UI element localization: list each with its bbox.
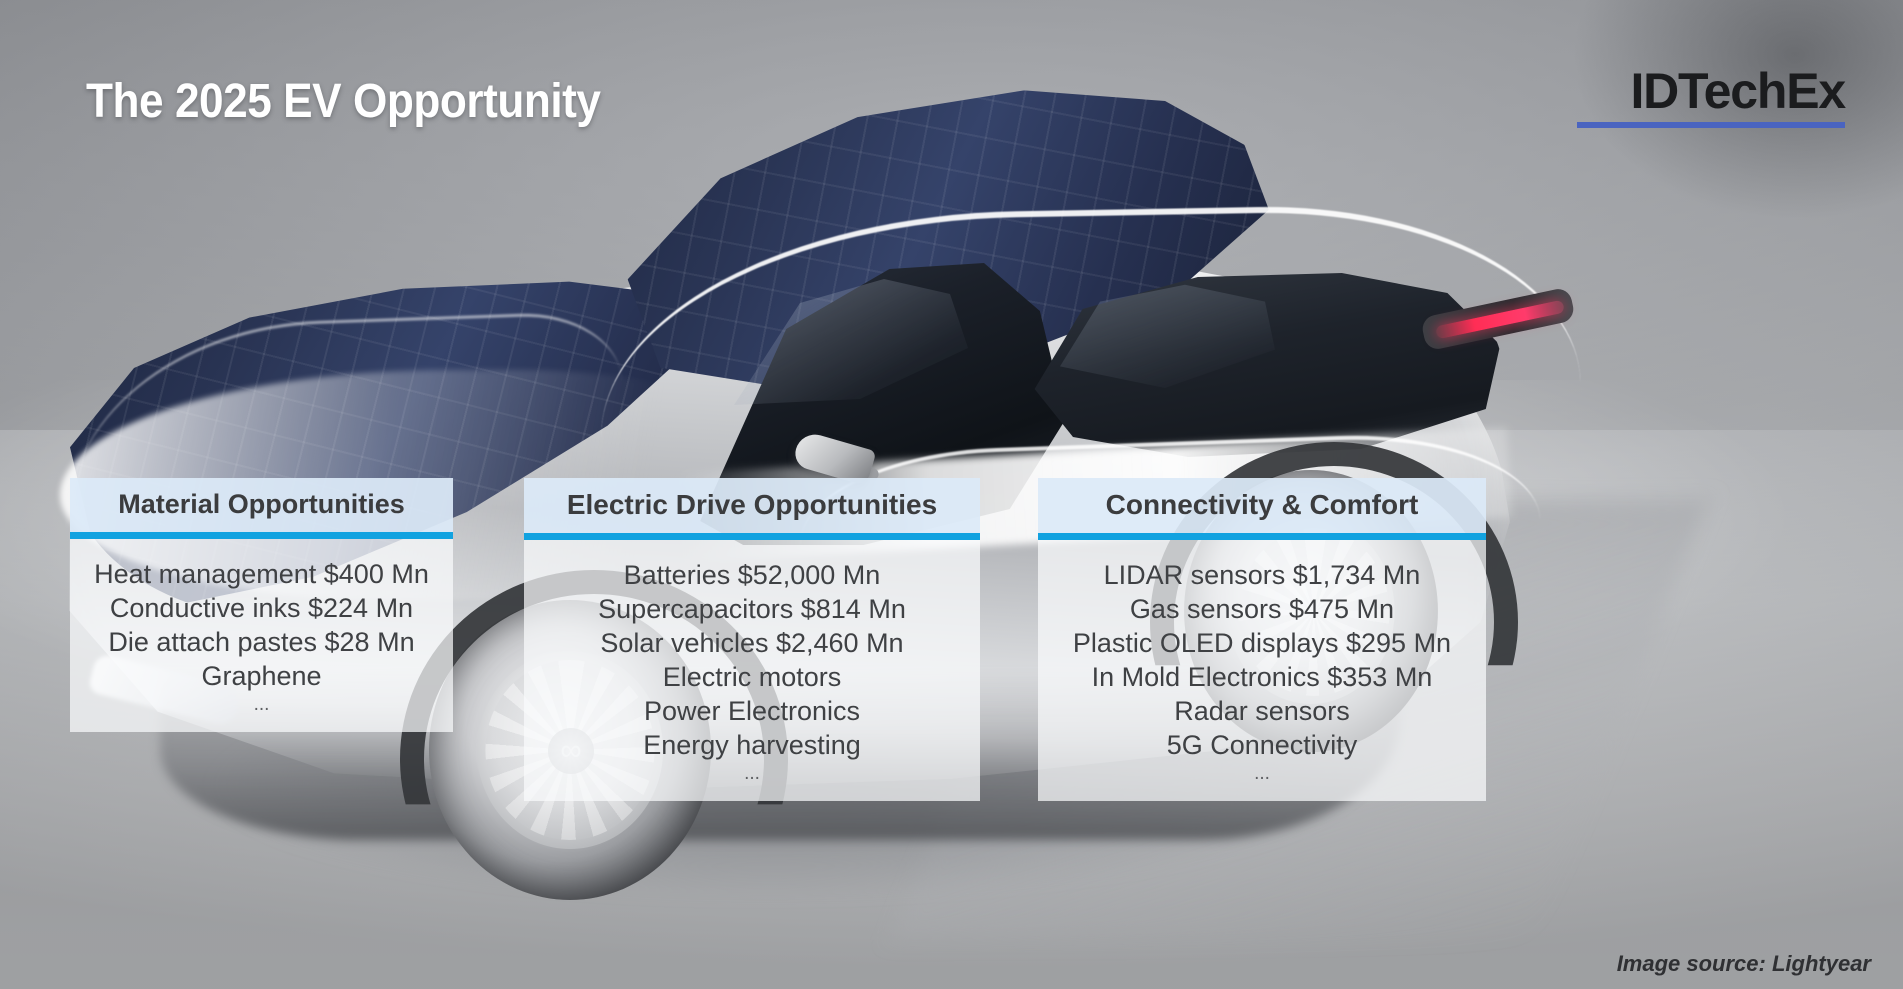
list-item: Gas sensors $475 Mn	[1046, 592, 1478, 626]
list-item: Energy harvesting	[532, 728, 972, 762]
panel-electric-drive-opportunities: Electric Drive Opportunities Batteries $…	[524, 478, 980, 801]
panel-heading-label: Material Opportunities	[78, 489, 445, 520]
panel-header: Electric Drive Opportunities	[524, 478, 980, 540]
list-item: Solar vehicles $2,460 Mn	[532, 626, 972, 660]
idtechex-logo[interactable]: IDTechEx	[1577, 66, 1845, 128]
list-more-indicator: ...	[1046, 762, 1478, 785]
panel-header: Connectivity & Comfort	[1038, 478, 1486, 540]
list-item: Supercapacitors $814 Mn	[532, 592, 972, 626]
panel-body: LIDAR sensors $1,734 Mn Gas sensors $475…	[1038, 540, 1486, 801]
list-item: Conductive inks $224 Mn	[78, 591, 445, 625]
list-item: Power Electronics	[532, 694, 972, 728]
panel-heading-label: Electric Drive Opportunities	[532, 489, 972, 521]
panel-heading-label: Connectivity & Comfort	[1046, 489, 1478, 521]
list-item: In Mold Electronics $353 Mn	[1046, 660, 1478, 694]
panel-body: Heat management $400 Mn Conductive inks …	[70, 539, 453, 732]
list-item: Radar sensors	[1046, 694, 1478, 728]
image-source-caption: Image source: Lightyear	[1617, 951, 1871, 977]
list-item: Die attach pastes $28 Mn	[78, 625, 445, 659]
logo-underline-bar	[1577, 122, 1845, 128]
list-item: Heat management $400 Mn	[78, 557, 445, 591]
list-item: 5G Connectivity	[1046, 728, 1478, 762]
panel-connectivity-and-comfort: Connectivity & Comfort LIDAR sensors $1,…	[1038, 478, 1486, 801]
list-more-indicator: ...	[532, 762, 972, 785]
list-item: LIDAR sensors $1,734 Mn	[1046, 558, 1478, 592]
slide-canvas: ∞ The 2025 EV Opportunity IDTechEx Mater…	[0, 0, 1903, 989]
logo-wordmark: IDTechEx	[1577, 66, 1845, 116]
list-item: Electric motors	[532, 660, 972, 694]
list-item: Batteries $52,000 Mn	[532, 558, 972, 592]
list-item: Graphene	[78, 659, 445, 693]
panel-material-opportunities: Material Opportunities Heat management $…	[70, 478, 453, 732]
list-item: Plastic OLED displays $295 Mn	[1046, 626, 1478, 660]
page-title: The 2025 EV Opportunity	[86, 74, 601, 129]
panel-header: Material Opportunities	[70, 478, 453, 539]
panel-body: Batteries $52,000 Mn Supercapacitors $81…	[524, 540, 980, 801]
list-more-indicator: ...	[78, 693, 445, 716]
